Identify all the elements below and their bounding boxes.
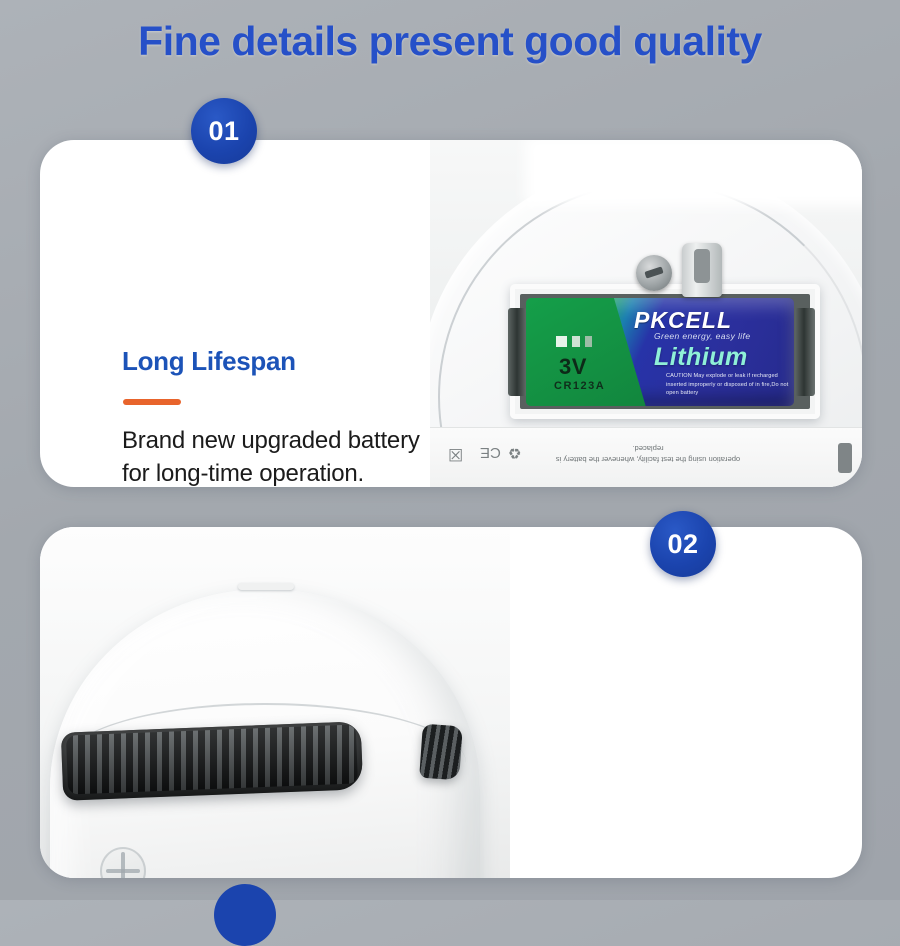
insect-proof-mesh-vent bbox=[61, 721, 363, 800]
screw-icon bbox=[636, 255, 672, 291]
battery-voltage: 3V bbox=[559, 354, 587, 380]
detector-top-tip bbox=[238, 583, 294, 590]
feature-badge-02: 02 bbox=[650, 511, 716, 577]
photo-highlight bbox=[525, 140, 862, 206]
vent-shading bbox=[61, 721, 363, 800]
feature-01-title: Long Lifespan bbox=[122, 346, 422, 377]
battery-clip bbox=[682, 243, 722, 297]
ce-mark-icon: CE bbox=[480, 444, 501, 461]
battery-tagline: Green energy, easy life bbox=[654, 331, 750, 341]
recycle-icon: ♻ bbox=[508, 444, 521, 462]
feature-01-description: Brand new upgraded battery for long-time… bbox=[122, 425, 422, 487]
housing-slot bbox=[838, 443, 852, 473]
feature-card-01: 3V CR123A PKCELL Green energy, easy life… bbox=[40, 140, 862, 487]
battery-terminal-right bbox=[795, 308, 815, 396]
infographic-page: Fine details present good quality 3V CR1… bbox=[0, 0, 900, 900]
accent-bar bbox=[123, 399, 181, 405]
wheelie-bin-icon: ☒ bbox=[448, 444, 463, 464]
side-vent bbox=[419, 724, 463, 781]
page-title: Fine details present good quality bbox=[0, 18, 900, 65]
battery-caution-text: CAUTION May explode or leak if recharged… bbox=[666, 372, 790, 398]
feature-badge-01: 01 bbox=[191, 98, 257, 164]
battery-model: CR123A bbox=[554, 380, 605, 392]
battery-terminal-left bbox=[508, 308, 528, 396]
battery-chemistry: Lithium bbox=[654, 343, 748, 372]
battery-compartment-photo: 3V CR123A PKCELL Green energy, easy life… bbox=[430, 140, 862, 487]
battery-label-bars bbox=[556, 336, 598, 347]
next-section-badge bbox=[214, 884, 276, 946]
feature-01-text: Long Lifespan Brand new upgraded battery… bbox=[122, 346, 422, 487]
lithium-battery: 3V CR123A PKCELL Green energy, easy life… bbox=[526, 298, 794, 406]
housing-label-text: operation using the test facility, whene… bbox=[548, 442, 748, 465]
housing-label-strip: ☒ CE ♻ operation using the test facility… bbox=[430, 427, 862, 487]
feature-card-02: Insect-proof Mesh Keeps insects from ent… bbox=[40, 527, 862, 878]
battery-brand: PKCELL bbox=[634, 307, 732, 334]
smoke-detector-dome-photo bbox=[40, 527, 510, 878]
